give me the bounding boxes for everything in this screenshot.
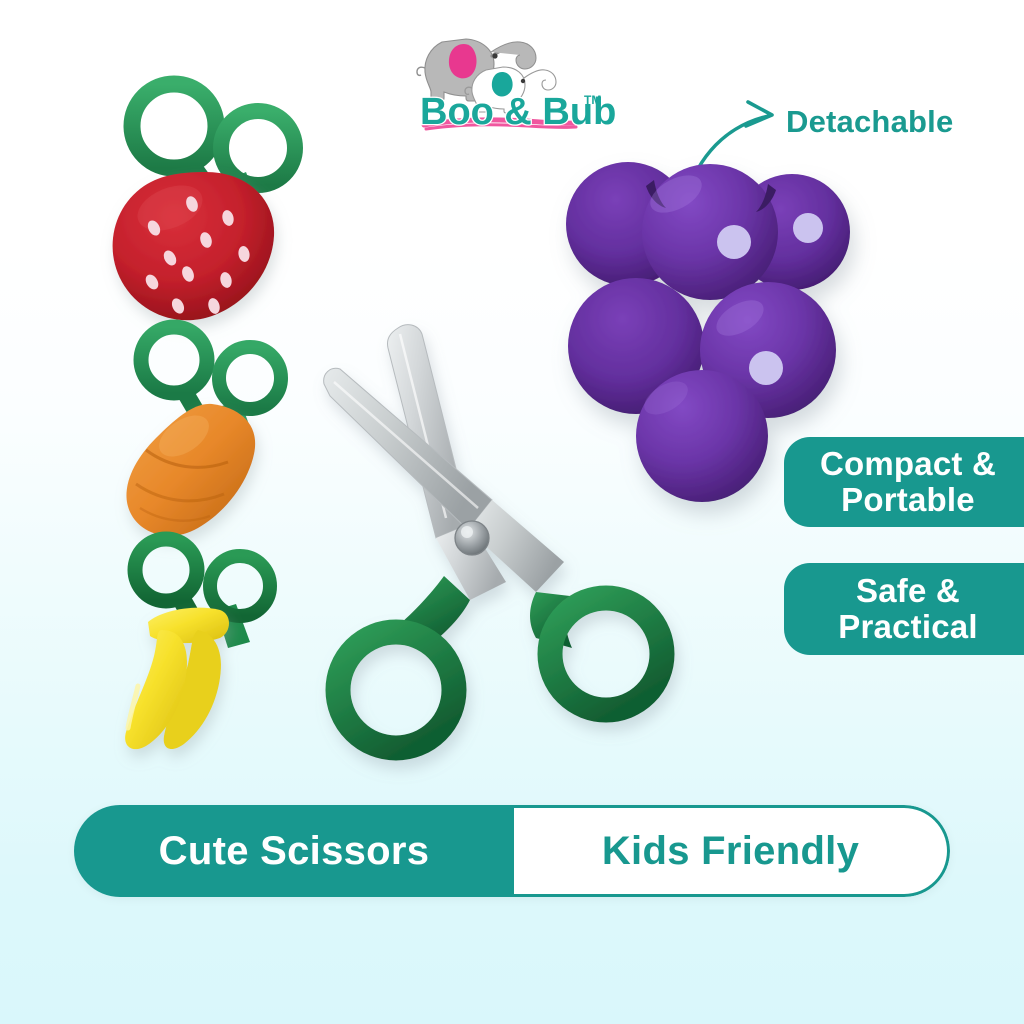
elephant-ear-pink	[449, 44, 477, 78]
product-carrot-scissors	[104, 322, 324, 562]
feature-badge-safe-practical: Safe & Practical	[784, 563, 1024, 655]
product-marketing-image: Boo & Bub TM Detachable	[0, 0, 1024, 1024]
scissor-ring-right	[219, 347, 281, 409]
grape-berry	[642, 164, 778, 300]
feature-badge-compact-portable: Compact & Portable	[784, 437, 1024, 527]
grape-dot	[793, 213, 823, 243]
scissor-ring-left	[135, 539, 197, 601]
elephant-eye	[492, 53, 497, 58]
scissor-ring-left	[141, 327, 207, 393]
bottom-banner: Cute Scissors Kids Friendly	[74, 805, 950, 897]
product-open-scissors	[320, 312, 720, 752]
product-banana-scissors	[104, 538, 324, 778]
banana-body	[125, 608, 229, 750]
scissor-ring-left	[132, 84, 216, 168]
grape-dot	[717, 225, 751, 259]
strawberry-body	[113, 172, 275, 320]
badge-line-2: Portable	[841, 481, 975, 518]
trademark-mark: TM	[584, 93, 601, 107]
scissor-ring-right	[221, 111, 295, 185]
banner-left-label: Cute Scissors	[74, 805, 514, 897]
badge-line-2: Practical	[838, 608, 977, 645]
product-strawberry-scissors	[78, 68, 328, 338]
carrot-body	[126, 404, 255, 536]
badge-text: Safe & Practical	[838, 573, 977, 644]
scissor-ring-right	[550, 598, 662, 710]
badge-line-1: Compact &	[820, 445, 996, 482]
scissor-pivot-screw	[455, 521, 489, 555]
banner-right-label: Kids Friendly	[514, 805, 950, 897]
scissor-ring-left	[338, 632, 454, 748]
scissor-ring-right	[210, 556, 270, 616]
badge-text: Compact & Portable	[820, 446, 996, 517]
badge-line-1: Safe &	[856, 572, 960, 609]
brand-logo: Boo & Bub TM	[408, 12, 620, 132]
elephant-eye-small	[521, 79, 525, 83]
grape-dot	[749, 351, 783, 385]
